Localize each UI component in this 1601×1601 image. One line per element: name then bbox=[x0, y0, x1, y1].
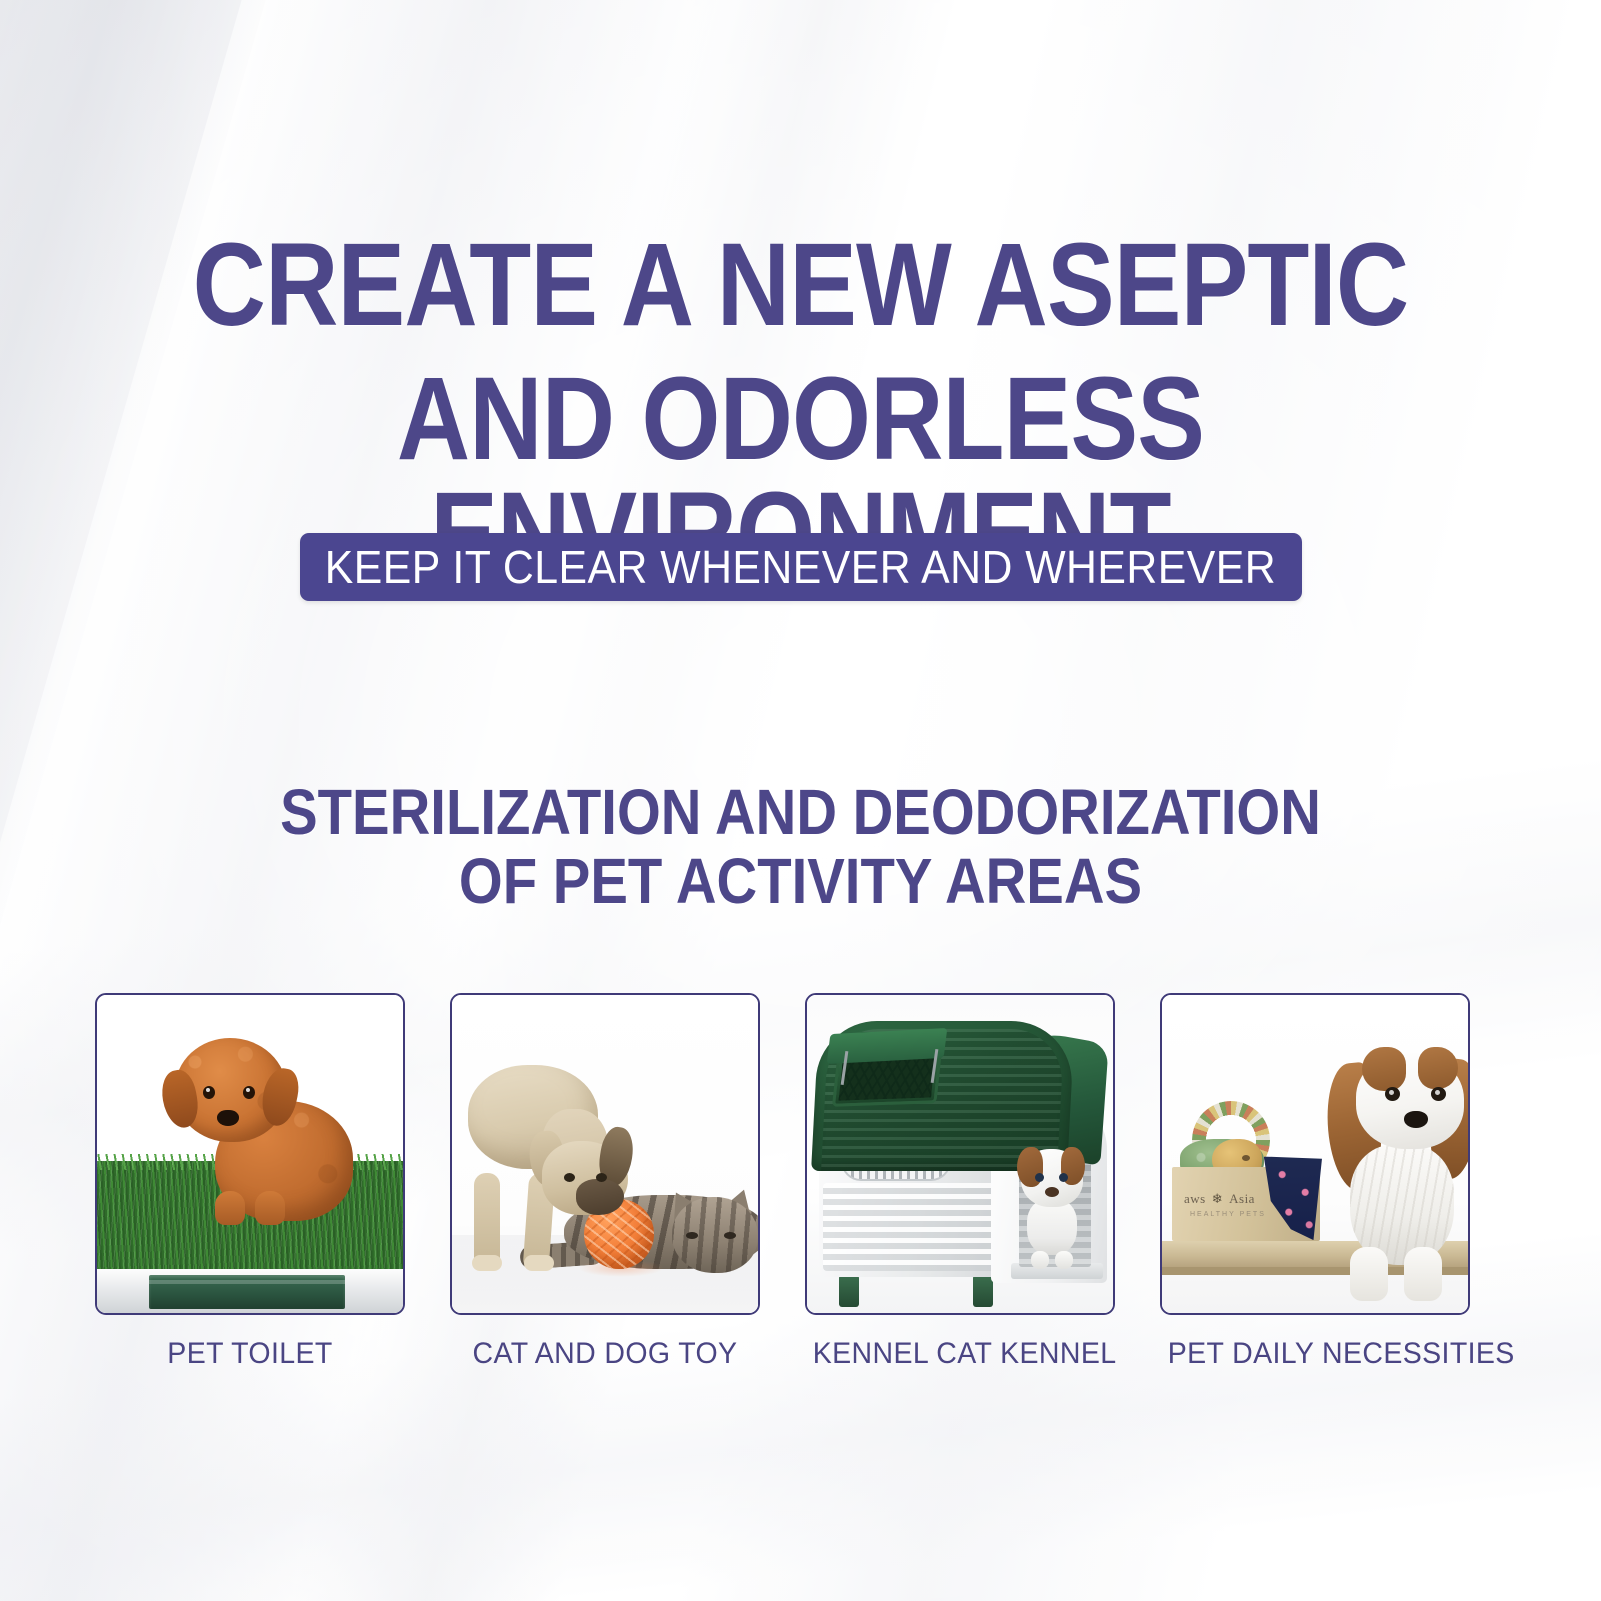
product-card-pet-daily-necessities[interactable]: aws ❄ Asia HEALTHY PETS bbox=[1160, 993, 1470, 1371]
product-card-frame bbox=[805, 993, 1115, 1315]
jack-russell-paw bbox=[1055, 1251, 1073, 1269]
cat-eye bbox=[686, 1232, 698, 1239]
product-card-kennel-cat-kennel[interactable]: KENNEL CAT KENNEL bbox=[805, 993, 1115, 1371]
product-card-caption: CAT AND DOG TOY bbox=[458, 1337, 753, 1371]
toy-box-brand-suffix: Asia bbox=[1229, 1191, 1255, 1207]
pet-daily-necessities-photo: aws ❄ Asia HEALTHY PETS bbox=[1162, 995, 1468, 1313]
poodle-front-leg bbox=[255, 1191, 285, 1225]
poodle-nose bbox=[217, 1110, 239, 1126]
jack-russell-eye bbox=[1035, 1173, 1044, 1182]
product-card-pet-toilet[interactable]: PET TOILET bbox=[95, 993, 405, 1371]
spaniel-nose bbox=[1404, 1111, 1428, 1128]
section-title-line-2: OF PET ACTIVITY AREAS bbox=[96, 847, 1505, 916]
spaniel-head-marking bbox=[1418, 1047, 1458, 1089]
toilet-tray-handle bbox=[149, 1275, 345, 1309]
subtitle-banner: KEEP IT CLEAR WHENEVER AND WHEREVER bbox=[300, 533, 1302, 601]
cavalier-king-charles-spaniel bbox=[1312, 1041, 1468, 1303]
kennel-photo bbox=[807, 995, 1113, 1313]
cat-head bbox=[672, 1197, 758, 1273]
product-card-row: PET TOILET bbox=[95, 993, 1470, 1371]
poodle-eye bbox=[243, 1086, 255, 1099]
puppy-muzzle bbox=[576, 1179, 624, 1215]
subtitle-text: KEEP IT CLEAR WHENEVER AND WHEREVER bbox=[325, 540, 1276, 594]
paw-print-icon: ❄ bbox=[1212, 1191, 1223, 1207]
tan-puppy bbox=[468, 1057, 636, 1267]
puppy-paw bbox=[524, 1255, 554, 1271]
spaniel-paw bbox=[1404, 1247, 1442, 1301]
puppy-eye bbox=[564, 1173, 575, 1182]
poodle-front-leg bbox=[215, 1191, 245, 1225]
poster-root: CREATE A NEW ASEPTIC AND ODORLESS ENVIRO… bbox=[0, 0, 1601, 1601]
spaniel-eye bbox=[1431, 1087, 1446, 1101]
section-title-line-1: STERILIZATION AND DEODORIZATION bbox=[96, 778, 1505, 847]
cat-eye bbox=[724, 1232, 736, 1239]
cat-and-dog-toy-photo bbox=[452, 995, 758, 1313]
product-card-caption: PET DAILY NECESSITIES bbox=[1168, 1337, 1463, 1371]
jack-russell-puppy bbox=[1019, 1149, 1085, 1269]
jack-russell-chest bbox=[1027, 1199, 1077, 1255]
toy-box-tagline: HEALTHY PETS bbox=[1190, 1211, 1266, 1218]
spaniel-head-marking bbox=[1362, 1047, 1406, 1091]
puppy-eye bbox=[596, 1173, 607, 1182]
section-title: STERILIZATION AND DEODORIZATION OF PET A… bbox=[0, 778, 1601, 916]
product-card-frame bbox=[95, 993, 405, 1315]
pet-toilet-photo bbox=[97, 995, 403, 1313]
headline-line-1: CREATE A NEW ASEPTIC bbox=[112, 228, 1489, 344]
spaniel-eye bbox=[1385, 1087, 1400, 1101]
product-card-caption: KENNEL CAT KENNEL bbox=[813, 1337, 1108, 1371]
jack-russell-paw bbox=[1031, 1251, 1049, 1269]
spaniel-paw bbox=[1350, 1247, 1388, 1301]
poodle-eye bbox=[203, 1086, 215, 1099]
toilet-tray bbox=[97, 1269, 403, 1313]
kennel-leg bbox=[973, 1275, 993, 1307]
kennel-leg bbox=[839, 1275, 859, 1307]
product-card-cat-and-dog-toy[interactable]: CAT AND DOG TOY bbox=[450, 993, 760, 1371]
toy-box-brand-name: aws bbox=[1184, 1191, 1206, 1207]
puppy-paw bbox=[472, 1255, 502, 1271]
jack-russell-nose bbox=[1045, 1187, 1059, 1197]
product-card-caption: PET TOILET bbox=[103, 1337, 398, 1371]
product-card-frame bbox=[450, 993, 760, 1315]
product-card-frame: aws ❄ Asia HEALTHY PETS bbox=[1160, 993, 1470, 1315]
jack-russell-eye bbox=[1059, 1173, 1068, 1182]
poodle-puppy bbox=[159, 1036, 355, 1221]
